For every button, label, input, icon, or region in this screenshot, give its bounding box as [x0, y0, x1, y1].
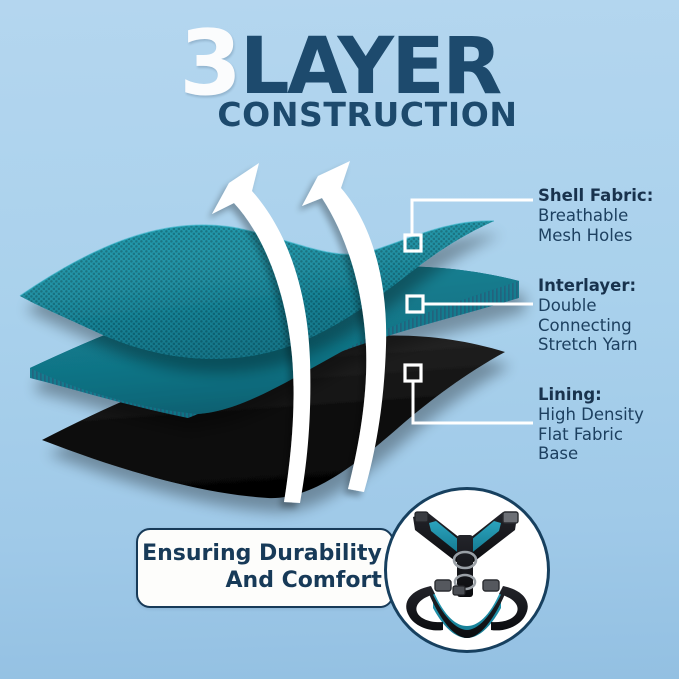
tagline-line-2: And Comfort [142, 568, 382, 595]
callout-interlayer: Interlayer: Double Connecting Stretch Ya… [538, 276, 638, 355]
harness-slider-top-left [415, 512, 428, 522]
harness-slider-top-right [503, 512, 518, 523]
callout-shell-fabric: Shell Fabric: Breathable Mesh Holes [538, 186, 653, 245]
harness-buckle-right [483, 580, 499, 591]
harness-buckle-left [435, 580, 451, 591]
callout-interlayer-line-3: Stretch Yarn [538, 335, 638, 355]
callout-interlayer-line-2: Connecting [538, 316, 638, 336]
callout-lining-line-2: Flat Fabric [538, 425, 644, 445]
callout-lining-line-1: High Density [538, 405, 644, 425]
tagline-line-1: Ensuring Durability [142, 541, 382, 566]
callout-shell-fabric-line-2: Mesh Holes [538, 226, 653, 246]
infographic-canvas: 3 LAYER CONSTRUCTION [0, 0, 679, 679]
dog-harness-icon [387, 490, 547, 650]
callout-lining-heading: Lining: [538, 385, 644, 405]
callout-lining: Lining: High Density Flat Fabric Base [538, 385, 644, 464]
tagline-text: Ensuring Durability And Comfort [142, 541, 388, 595]
tagline-banner: Ensuring Durability And Comfort [136, 528, 394, 608]
callout-interlayer-heading: Interlayer: [538, 276, 638, 296]
callout-shell-fabric-line-1: Breathable [538, 206, 653, 226]
callout-shell-fabric-heading: Shell Fabric: [538, 186, 653, 206]
product-photo-circle [384, 487, 550, 653]
harness-slider-center [453, 586, 465, 595]
callout-lining-line-3: Base [538, 444, 644, 464]
callout-interlayer-line-1: Double [538, 296, 638, 316]
